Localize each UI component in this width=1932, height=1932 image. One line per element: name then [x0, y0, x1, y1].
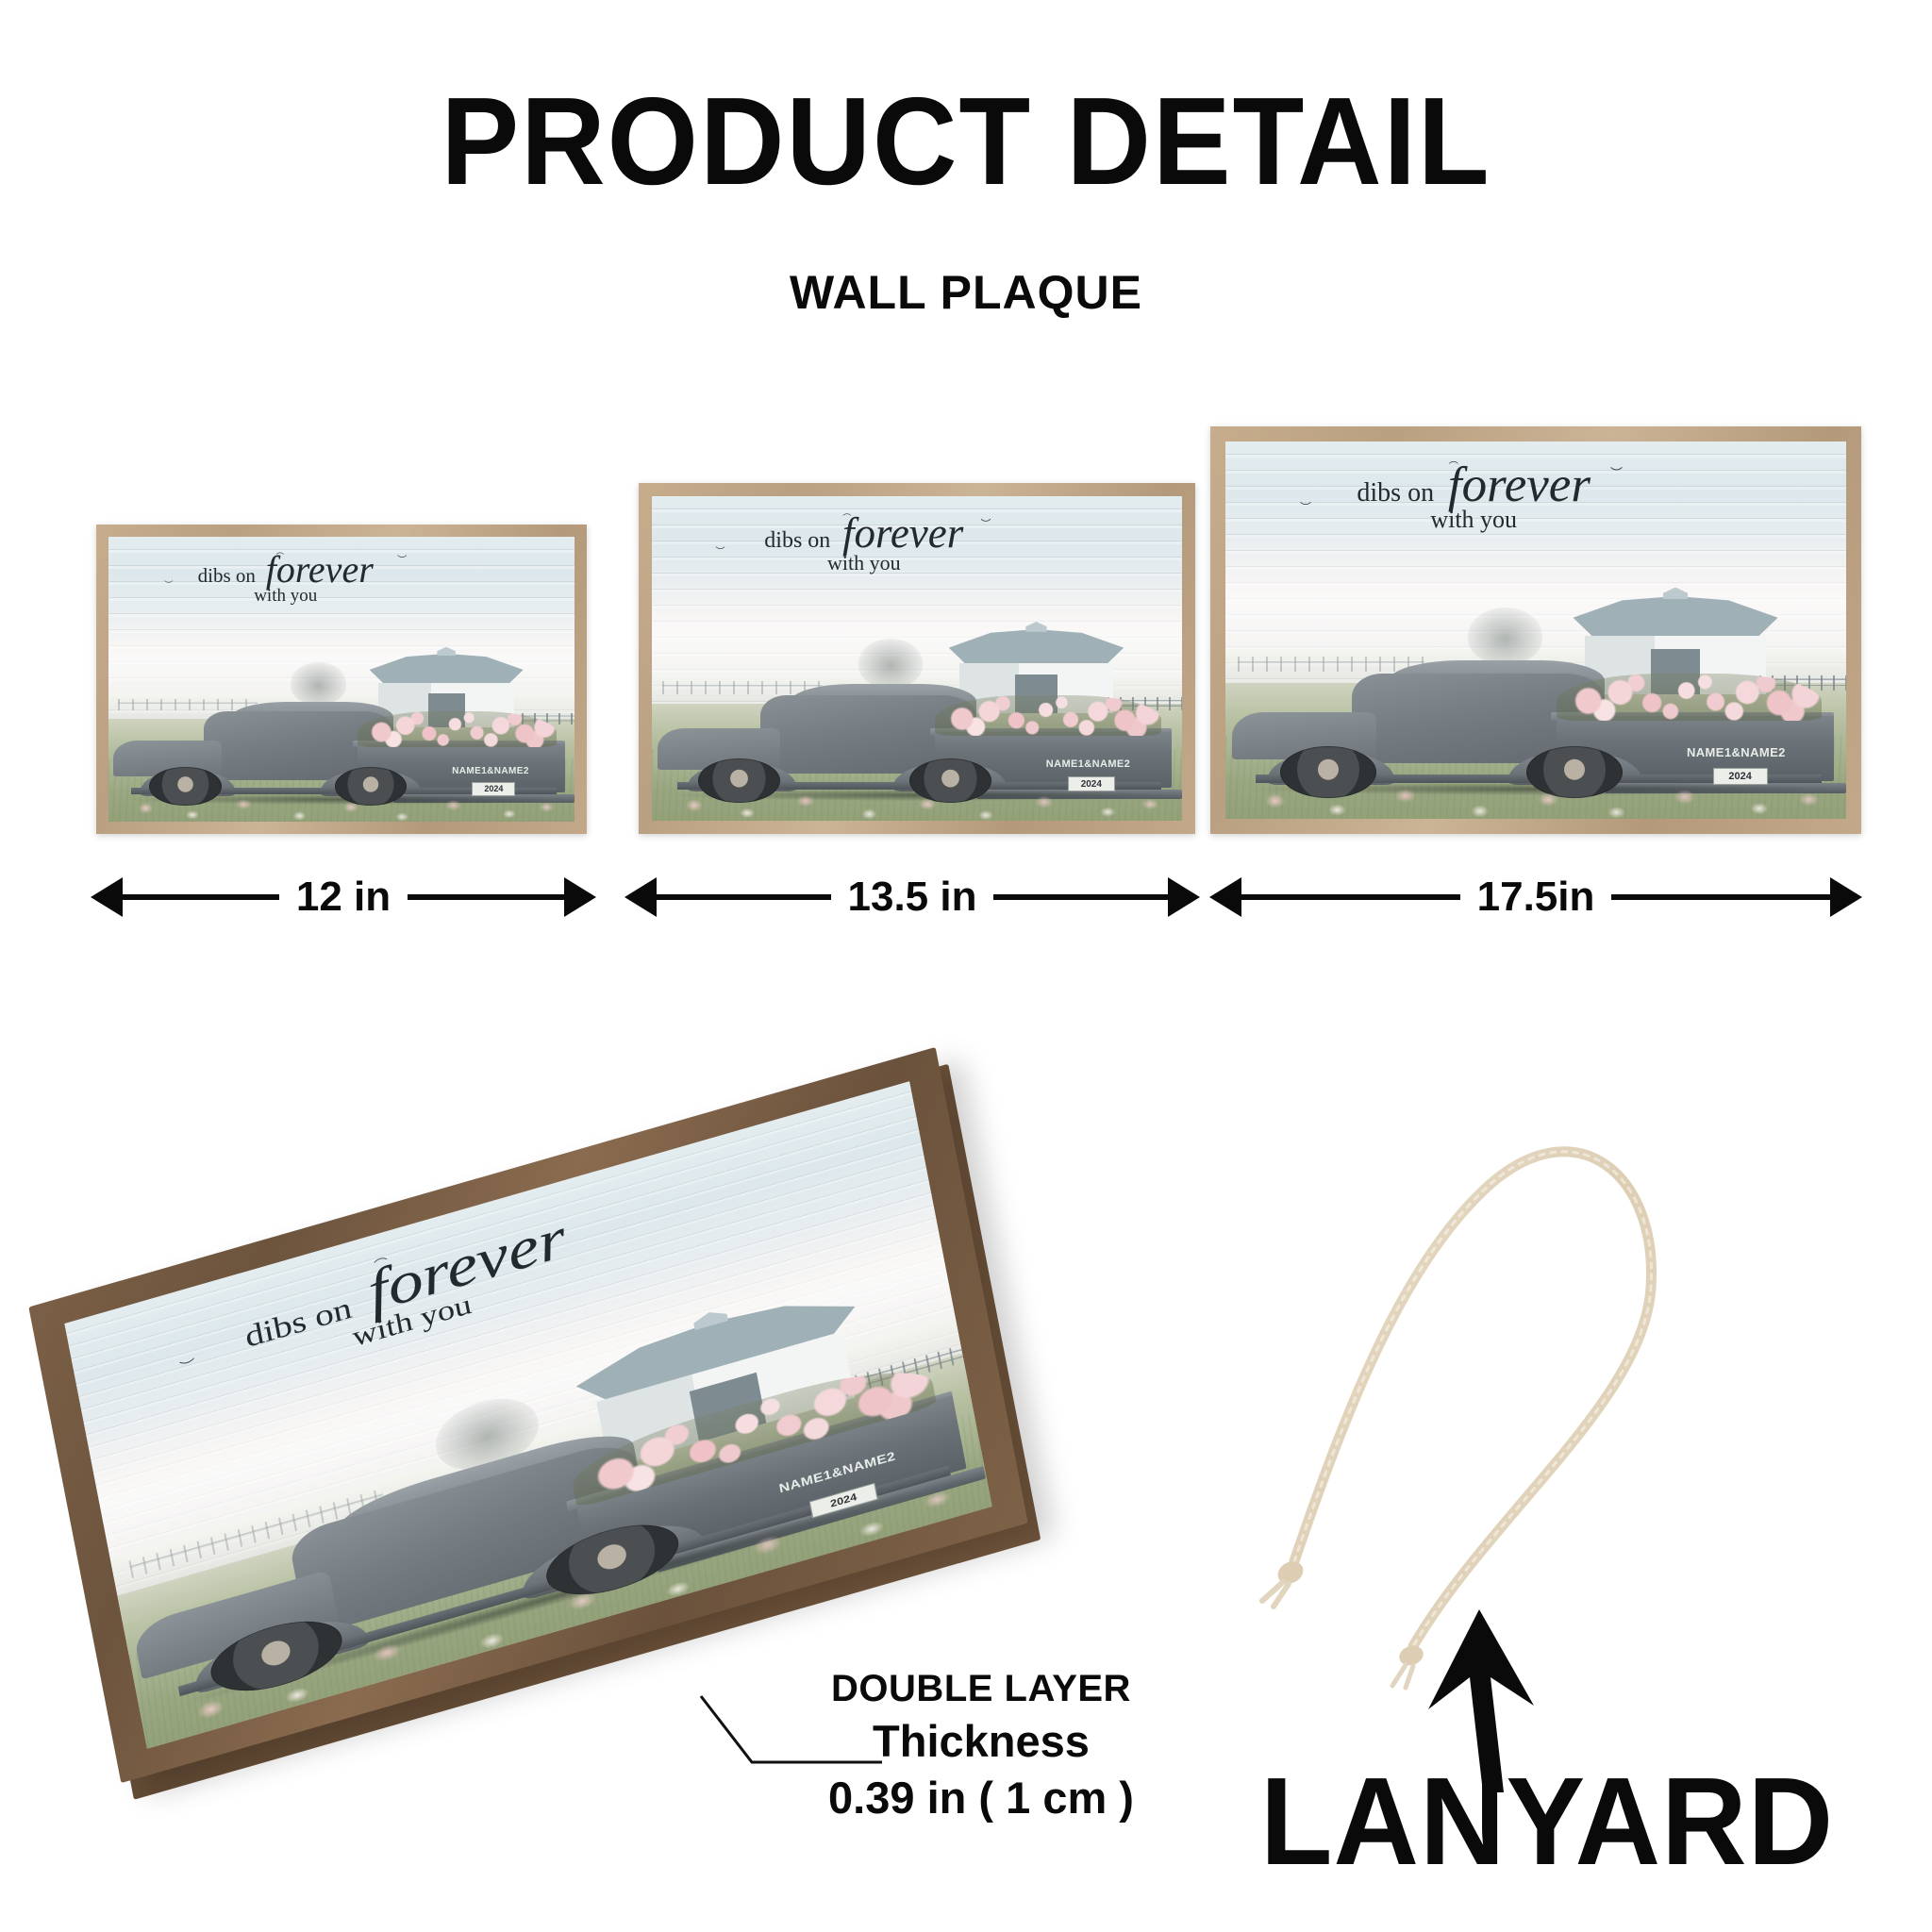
script-line-2: forever — [266, 551, 374, 589]
script-line-1: dibs on — [1357, 480, 1434, 507]
dimension-line — [1241, 894, 1460, 900]
plaque-frame-large: NAME1&NAME2 2024 dibs on forever with yo… — [1210, 426, 1861, 834]
plaque-preview-large[interactable]: NAME1&NAME2 2024 dibs on forever with yo… — [1210, 426, 1861, 834]
ground-petals — [1225, 755, 1846, 819]
bird-icon: ︶ — [164, 582, 173, 591]
script-line-3: with you — [1275, 508, 1673, 532]
bird-icon: ︶ — [980, 519, 991, 529]
arrow-right-icon — [1830, 877, 1862, 917]
page-title: PRODUCT DETAIL — [58, 79, 1874, 204]
dimension-line — [657, 894, 831, 900]
script-line-1: dibs on — [198, 566, 256, 586]
dimension-large: 17.5in — [1209, 875, 1862, 919]
artwork-script-small: dibs on forever with you — [137, 551, 435, 605]
arrow-left-icon — [625, 877, 657, 917]
script-line-3: with you — [694, 553, 1034, 574]
script-line-2: forever — [1448, 460, 1591, 510]
arrow-left-icon — [1209, 877, 1241, 917]
flower-bouquet — [935, 695, 1161, 736]
bird-icon: ︶ — [1300, 502, 1311, 513]
ground-petals — [652, 766, 1182, 821]
dimension-medium: 13.5 in — [625, 875, 1200, 919]
dimension-line — [123, 894, 279, 900]
page-subtitle: WALL PLAQUE — [0, 269, 1932, 316]
arrow-right-icon — [1168, 877, 1200, 917]
bird-icon: ︵ — [1449, 457, 1458, 466]
plaque-artwork-medium: NAME1&NAME2 2024 dibs on forever with yo… — [652, 496, 1182, 821]
flower-bouquet — [1557, 674, 1822, 721]
dimension-label-medium: 13.5 in — [831, 874, 994, 921]
plaque-artwork-large: NAME1&NAME2 2024 dibs on forever with yo… — [1225, 441, 1846, 819]
dimension-line — [1611, 894, 1830, 900]
thickness-line-2: Thickness — [717, 1713, 1245, 1770]
plaque-frame-small: NAME1&NAME2 2024 dibs on forever with yo… — [96, 525, 587, 834]
dimension-line — [993, 894, 1168, 900]
plaque-preview-small[interactable]: NAME1&NAME2 2024 dibs on forever with yo… — [96, 525, 587, 834]
bird-icon: ︶ — [715, 548, 724, 558]
plaque-preview-medium[interactable]: NAME1&NAME2 2024 dibs on forever with yo… — [639, 483, 1195, 834]
arrow-left-icon — [91, 877, 123, 917]
dimension-label-small: 12 in — [279, 874, 408, 921]
bird-icon: ︵ — [842, 509, 851, 518]
script-line-3: with you — [137, 587, 435, 605]
thickness-line-1: DOUBLE LAYER — [717, 1665, 1245, 1713]
ground-petals — [108, 774, 575, 822]
plaque-artwork-small: NAME1&NAME2 2024 dibs on forever with yo… — [108, 537, 575, 822]
thickness-callout: DOUBLE LAYER Thickness 0.39 in ( 1 cm ) — [717, 1665, 1245, 1827]
plaque-artwork-angled: NAME1&NAME2 2024 dibs on forever with yo… — [64, 1081, 992, 1749]
dimension-line — [408, 894, 564, 900]
flower-bouquet — [358, 711, 557, 747]
plaque-angled-view[interactable]: NAME1&NAME2 2024 dibs on forever with yo… — [57, 1113, 1113, 1698]
dimension-label-large: 17.5in — [1460, 874, 1612, 921]
arrow-right-icon — [564, 877, 596, 917]
plaque-frame-medium: NAME1&NAME2 2024 dibs on forever with yo… — [639, 483, 1195, 834]
bird-icon: ︶ — [397, 557, 407, 566]
product-detail-page: PRODUCT DETAIL WALL PLAQUE — [0, 0, 1932, 1932]
bird-icon: ︶ — [1610, 468, 1623, 480]
bird-icon: ︵ — [276, 548, 284, 556]
script-line-1: dibs on — [764, 529, 830, 552]
dimension-small: 12 in — [91, 875, 596, 919]
lanyard-label: LANYARD — [1216, 1759, 1879, 1884]
script-line-2: forever — [842, 512, 963, 555]
thickness-line-3: 0.39 in ( 1 cm ) — [717, 1770, 1245, 1826]
